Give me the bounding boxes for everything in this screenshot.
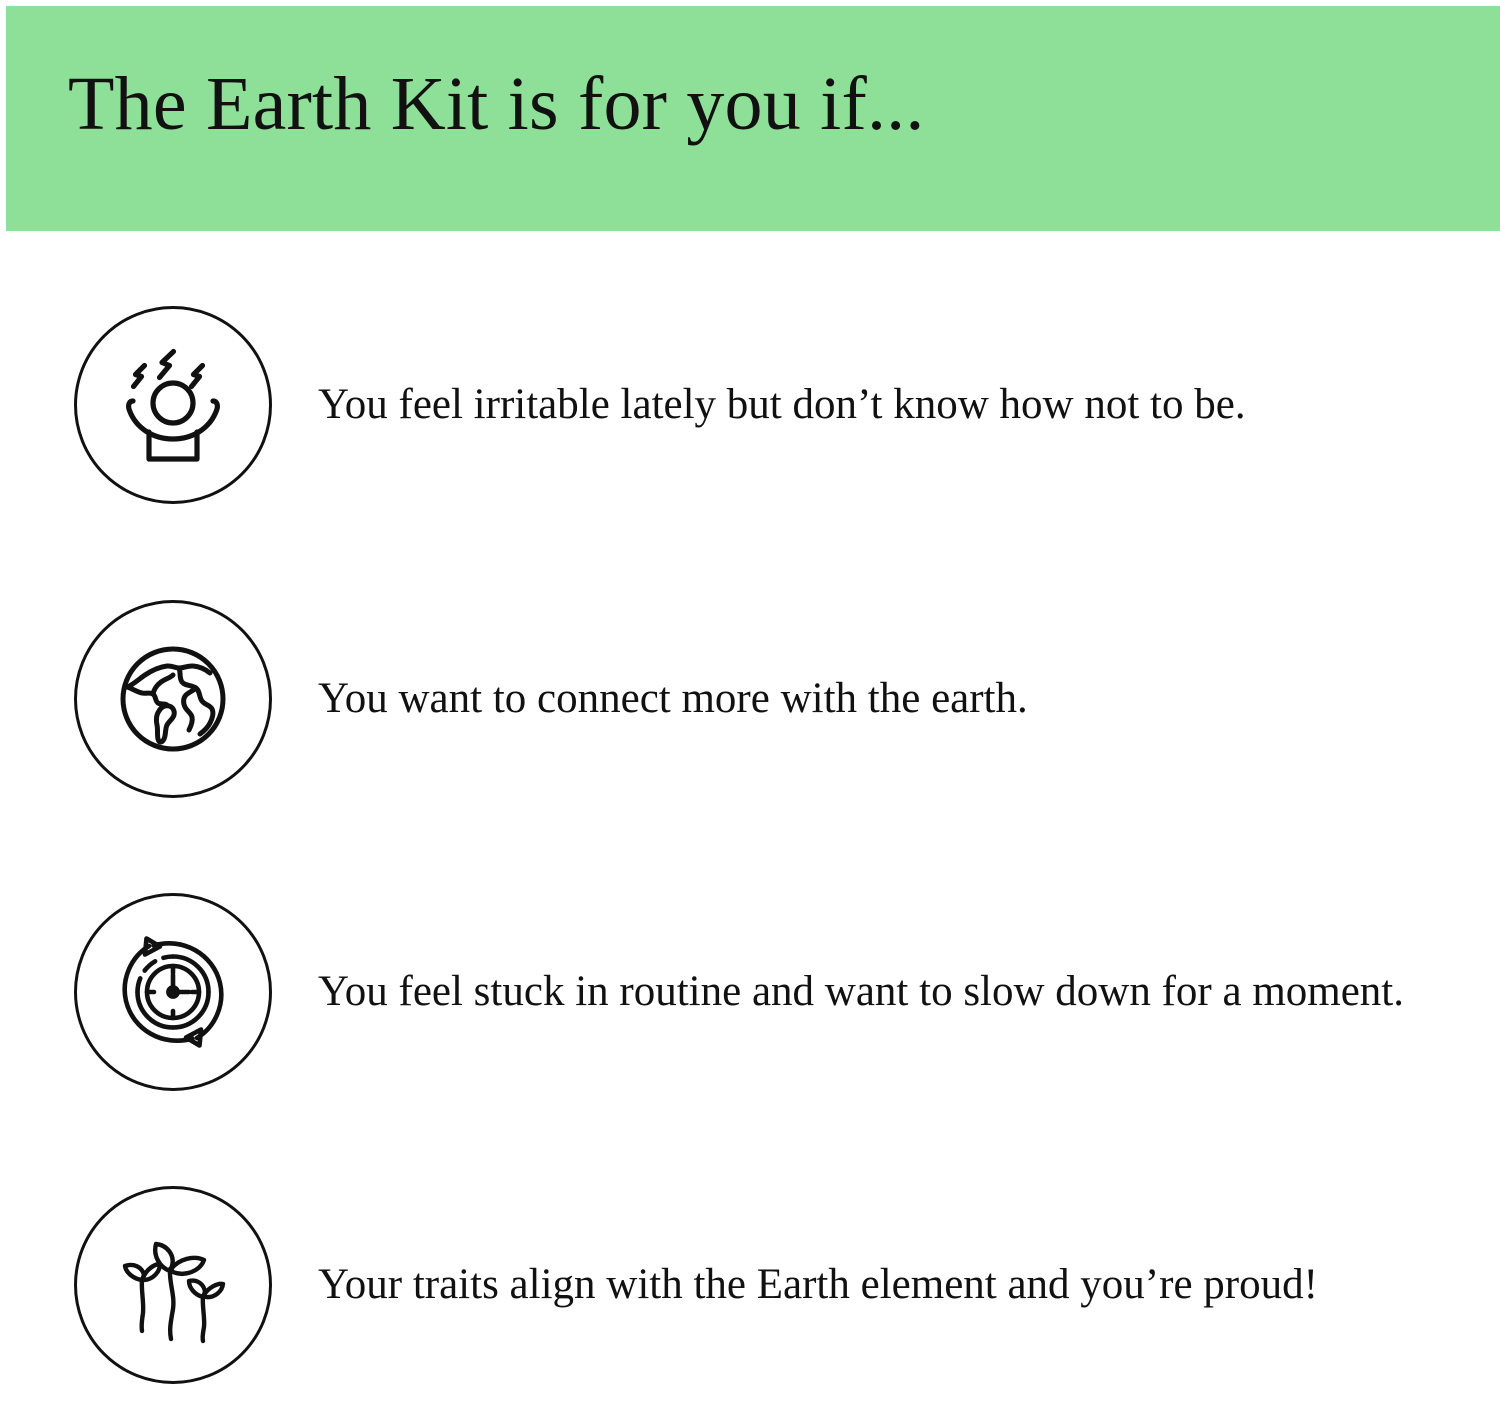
clock-cycle-glyph (109, 928, 237, 1056)
list-item: You want to connect more with the earth. (0, 599, 1500, 799)
list-item-text: You feel irritable lately but don’t know… (318, 380, 1500, 429)
list-item: Your traits align with the Earth element… (0, 1185, 1500, 1385)
list-item-text: You want to connect more with the earth. (318, 674, 1500, 723)
list-item: You feel irritable lately but don’t know… (0, 305, 1500, 505)
list-item: You feel stuck in routine and want to sl… (0, 892, 1500, 1092)
globe-earth-icon (74, 600, 272, 798)
clock-cycle-icon (74, 893, 272, 1091)
list-item-text: Your traits align with the Earth element… (318, 1260, 1500, 1309)
globe-earth-glyph (109, 635, 237, 763)
header-banner: The Earth Kit is for you if... (6, 6, 1500, 231)
stressed-person-glyph (109, 341, 237, 469)
sprouts-icon (74, 1186, 272, 1384)
stressed-person-icon (74, 306, 272, 504)
page-title: The Earth Kit is for you if... (68, 66, 925, 142)
list-item-text: You feel stuck in routine and want to sl… (318, 967, 1500, 1016)
sprouts-glyph (109, 1221, 237, 1349)
